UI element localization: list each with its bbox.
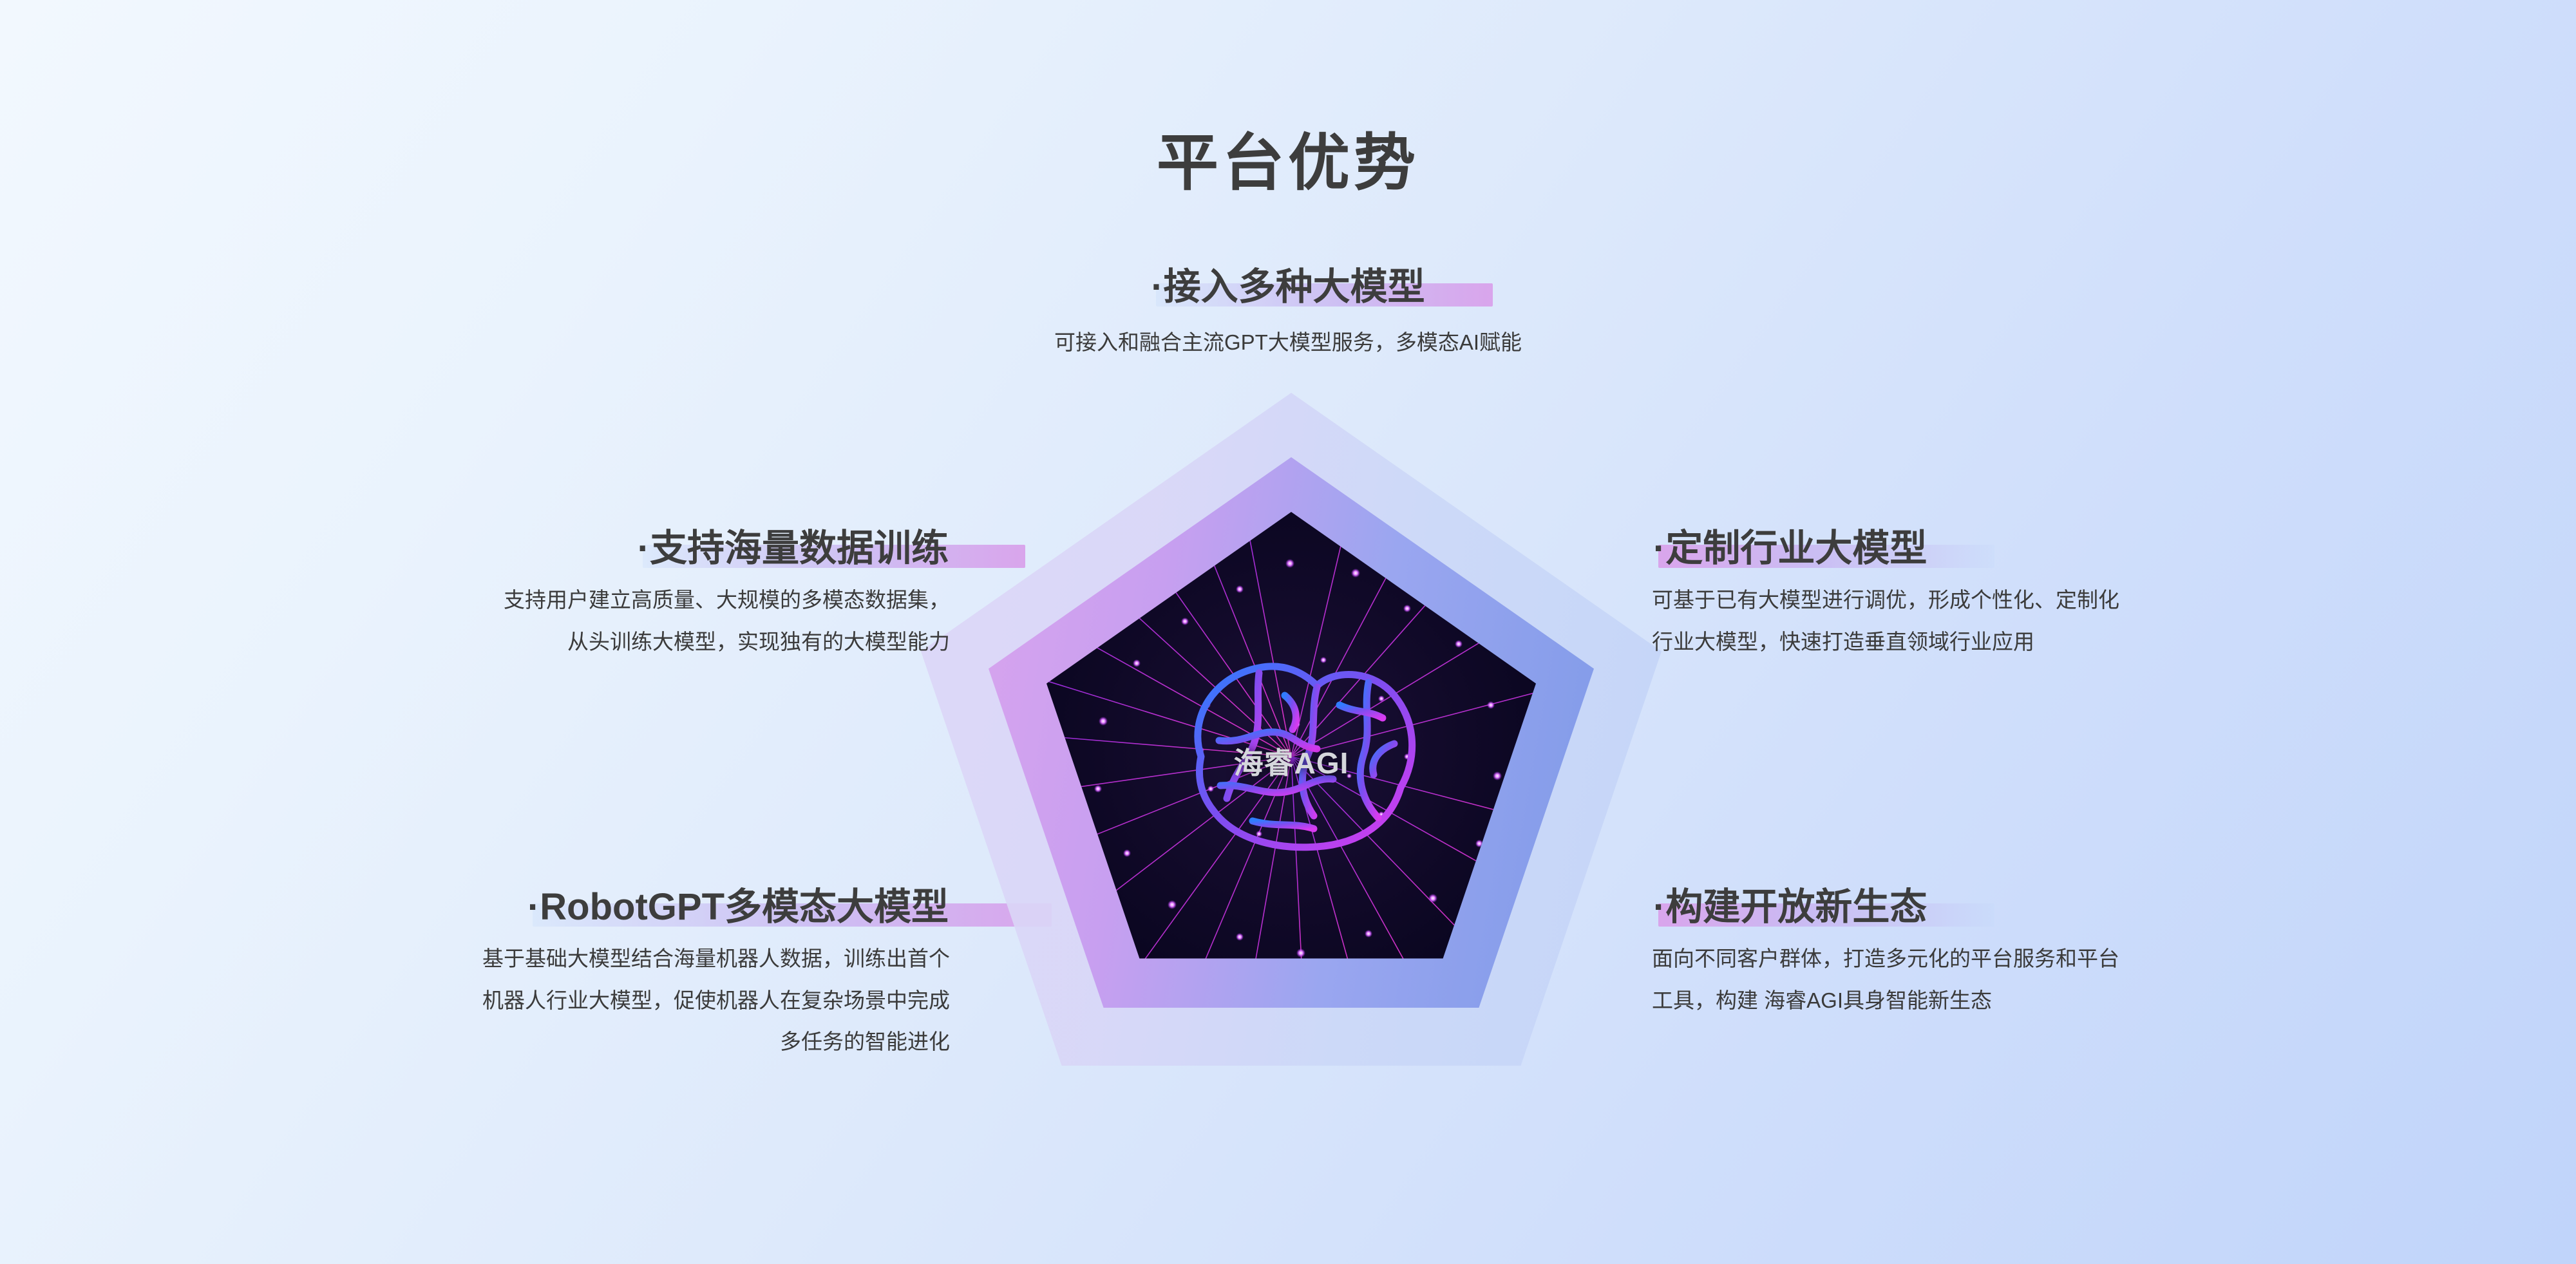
heading-bullet: ·: [638, 527, 650, 569]
feature-heading: ·构建开放新生态: [1652, 885, 1928, 929]
feature-desc-line: 行业大模型，快速打造垂直领域行业应用: [1652, 621, 2119, 663]
feature-desc-line: 基于基础大模型结合海量机器人数据，训练出首个: [482, 938, 950, 979]
heading-text: 支持海量数据训练: [650, 527, 949, 569]
heading-text: 构建开放新生态: [1665, 886, 1927, 928]
feature-multi-model-access: ·接入多种大模型 可接入和融合主流GPT大模型服务，多模态AI赋能: [0, 265, 2576, 364]
feature-heading: ·支持海量数据训练: [636, 527, 950, 571]
heading-text: 定制行业大模型: [1665, 527, 1927, 569]
feature-desc-line: 多任务的智能进化: [482, 1021, 950, 1062]
feature-massive-data-training: ·支持海量数据训练 支持用户建立高质量、大规模的多模态数据集， 从头训练大模型，…: [504, 527, 950, 663]
heading-bullet: ·: [527, 886, 540, 928]
feature-robotgpt-multimodal: ·RobotGPT多模态大模型 基于基础大模型结合海量机器人数据，训练出首个 机…: [482, 885, 950, 1062]
feature-desc-line: 机器人行业大模型，促使机器人在复杂场景中完成: [482, 980, 950, 1021]
feature-desc-line: 工具，构建 海睿AGI具身智能新生态: [1652, 980, 2119, 1021]
heading-bullet: ·: [1151, 266, 1163, 308]
feature-desc-line: 从头训练大模型，实现独有的大模型能力: [504, 621, 950, 663]
feature-heading: ·定制行业大模型: [1652, 527, 1928, 571]
heading-text: RobotGPT多模态大模型: [540, 886, 949, 928]
heading-bullet: ·: [1653, 886, 1665, 928]
feature-desc-line: 支持用户建立高质量、大规模的多模态数据集，: [504, 580, 950, 621]
central-pentagon-graphic: 海睿AGI: [921, 393, 1662, 1101]
heading-bullet: ·: [1653, 527, 1665, 569]
feature-desc-line: 面向不同客户群体，打造多元化的平台服务和平台: [1652, 938, 2119, 979]
page-title: 平台优势: [0, 113, 2576, 202]
feature-open-ecosystem: ·构建开放新生态 面向不同客户群体，打造多元化的平台服务和平台 工具，构建 海睿…: [1652, 885, 2119, 1021]
feature-custom-industry-model: ·定制行业大模型 可基于已有大模型进行调优，形成个性化、定制化 行业大模型，快速…: [1652, 527, 2119, 663]
center-brand-label: 海睿AGI: [1234, 740, 1349, 782]
heading-text: 接入多种大模型: [1164, 266, 1425, 308]
feature-desc-line: 可基于已有大模型进行调优，形成个性化、定制化: [1652, 580, 2119, 621]
feature-heading: ·接入多种大模型: [1150, 265, 1426, 309]
feature-heading: ·RobotGPT多模态大模型: [526, 885, 950, 929]
feature-desc-line: 可接入和融合主流GPT大模型服务，多模态AI赋能: [0, 322, 2576, 363]
